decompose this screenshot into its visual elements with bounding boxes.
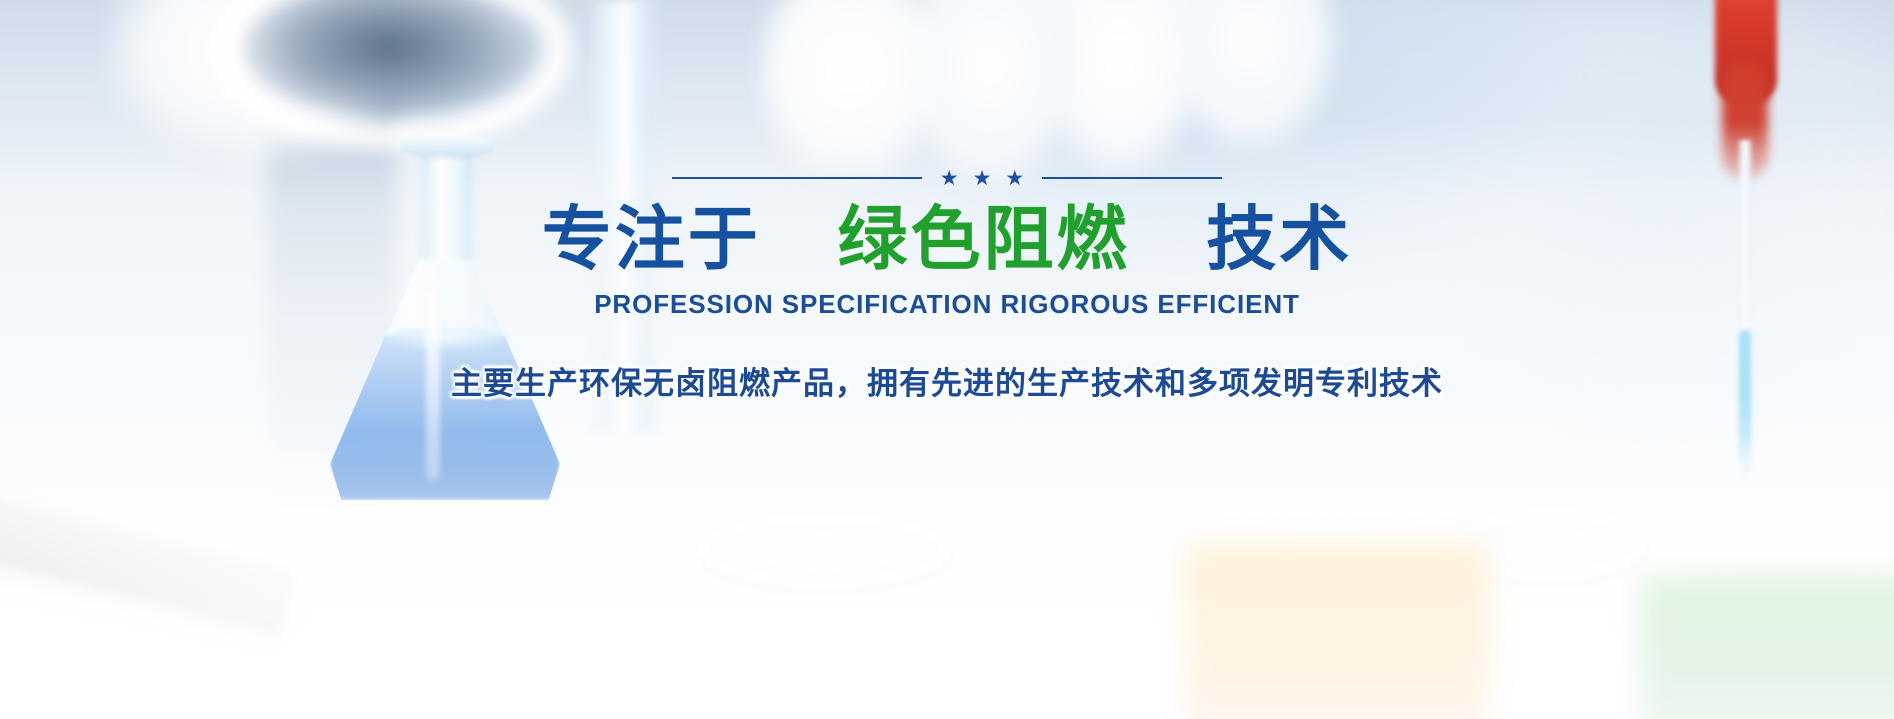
lab-table-surface bbox=[0, 430, 1894, 719]
title-part-2: 绿色阻燃 bbox=[838, 198, 1130, 280]
star-icon-3: ★ bbox=[1005, 168, 1024, 189]
banner-content: ★ ★ ★ 专注于 绿色阻燃 技术 PROFESSION SPECIFICATI… bbox=[0, 168, 1894, 403]
gloved-hand-top bbox=[760, 0, 1460, 190]
divider-line-right bbox=[1042, 177, 1222, 179]
beaker-mouth-opening bbox=[238, 0, 538, 122]
divider-line-left bbox=[672, 177, 922, 179]
banner-english-subtitle: PROFESSION SPECIFICATION RIGOROUS EFFICI… bbox=[0, 289, 1894, 320]
banner-description: 主要生产环保无卤阻燃产品，拥有先进的生产技术和多项发明专利技术 bbox=[0, 358, 1894, 403]
pipette-bulb-icon bbox=[1715, 0, 1777, 105]
flask-rim bbox=[402, 134, 492, 156]
banner-title: 专注于 绿色阻燃 技术 bbox=[0, 204, 1894, 275]
orange-beaker bbox=[1185, 545, 1490, 719]
beaker-rim bbox=[212, 0, 572, 150]
petri-dish-right bbox=[1455, 510, 1645, 580]
star-icon-1: ★ bbox=[940, 168, 959, 189]
title-part-1: 专注于 bbox=[542, 198, 761, 280]
ornament-divider: ★ ★ ★ bbox=[0, 168, 1894, 188]
star-icon-2: ★ bbox=[973, 168, 992, 189]
green-beaker bbox=[1640, 580, 1894, 719]
pipette-bulb-lower bbox=[1722, 60, 1768, 180]
title-part-3: 技术 bbox=[1206, 198, 1352, 280]
star-group: ★ ★ ★ bbox=[922, 168, 1042, 189]
petri-dish-center bbox=[700, 515, 950, 587]
hero-banner: ★ ★ ★ 专注于 绿色阻燃 技术 PROFESSION SPECIFICATI… bbox=[0, 0, 1894, 719]
green-beaker-rim bbox=[1648, 566, 1894, 610]
orange-beaker-rim bbox=[1195, 530, 1480, 578]
lab-notebook-tray bbox=[0, 471, 295, 635]
